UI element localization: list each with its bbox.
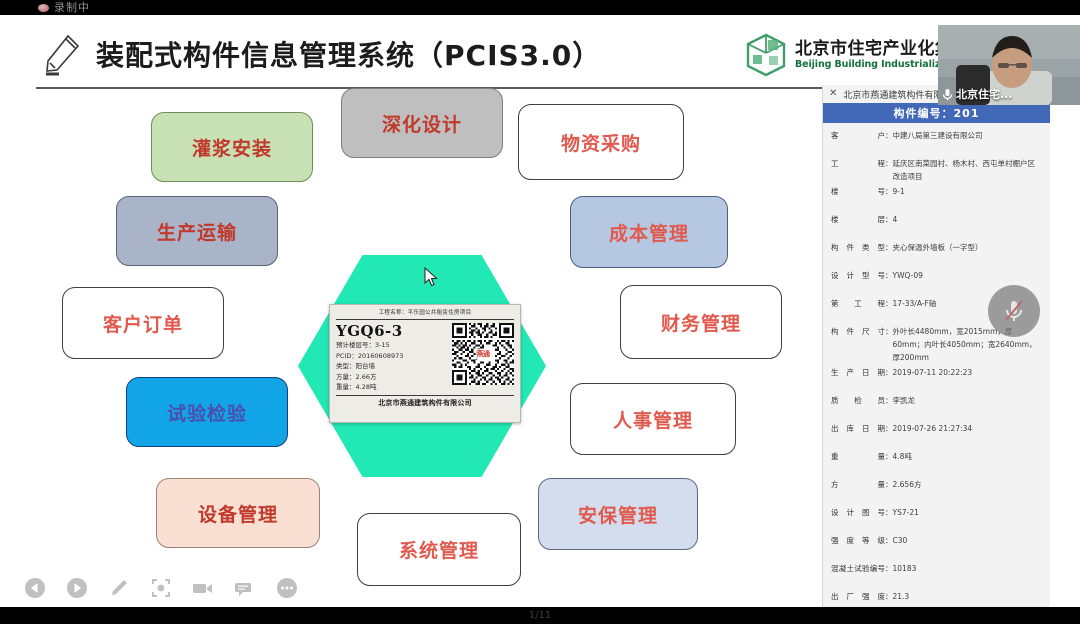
detail-field-key: 混凝土试验编号 — [831, 562, 885, 588]
next-slide-icon[interactable] — [64, 575, 90, 601]
detail-field-row: 出库日期：2019-07-26 21:27:34 — [831, 422, 1042, 448]
detail-field-list: 客户：中建八局第三建设有限公司工程：延庆区南菜园村、杨木村、西屯单村棚户区改造项… — [823, 123, 1050, 607]
detail-field-value: YS7-21 — [893, 506, 1043, 532]
process-node[interactable]: 深化设计 — [341, 88, 503, 158]
detail-field-row: 重量：4.8吨 — [831, 450, 1042, 476]
label-project-line: 工程名称：平乐园公共租赁住房项目 — [336, 309, 514, 320]
recording-bar: 录制中 — [0, 0, 1080, 15]
detail-field-row: 质检员：李凯龙 — [831, 394, 1042, 420]
mouse-cursor-icon — [424, 267, 438, 287]
process-node[interactable]: 系统管理 — [357, 513, 521, 586]
video-icon[interactable] — [190, 575, 216, 601]
label-field: PCID：20160608973 — [336, 351, 448, 362]
record-dot-icon — [38, 4, 49, 12]
label-field: 预计楼层号：3-15 — [336, 340, 448, 351]
process-node[interactable]: 生产运输 — [116, 196, 278, 266]
detail-field-separator: ： — [885, 422, 893, 448]
detail-field-row: 构件类型：夹心保温外墙板（一字型） — [831, 241, 1042, 267]
close-icon[interactable]: ✕ — [829, 89, 837, 99]
mic-muted-icon[interactable] — [988, 285, 1040, 337]
component-detail-panel: ✕ 北京市燕通建筑构件有限公司 构件编号：201 客户：中建八局第三建设有限公司… — [822, 85, 1050, 607]
process-node[interactable]: 试验检验 — [126, 377, 288, 447]
slide-page-indicator: 1/11 — [0, 607, 1080, 624]
detail-field-key: 楼号 — [831, 185, 885, 211]
process-node[interactable]: 安保管理 — [538, 478, 698, 550]
detail-field-separator: ： — [885, 185, 893, 211]
detail-field-separator: ： — [885, 297, 893, 323]
mic-icon — [942, 88, 953, 101]
company-logo: 北京市住宅产业化集团 Beijing Building Industrializ… — [745, 33, 970, 77]
detail-field-row: 混凝土试验编号：10183 — [831, 562, 1042, 588]
page-title: 装配式构件信息管理系统（PCIS3.0） — [96, 34, 601, 74]
detail-field-row: 工程：延庆区南菜园村、杨木村、西屯单村棚户区改造项目 — [831, 157, 1042, 183]
detail-field-key: 工程 — [831, 157, 885, 183]
detail-field-value: 4.8吨 — [893, 450, 1043, 476]
process-node[interactable]: 成本管理 — [570, 196, 728, 268]
detail-field-row: 楼层：4 — [831, 213, 1042, 239]
detail-field-separator: ： — [885, 269, 893, 295]
pen-icon[interactable] — [106, 575, 132, 601]
detail-field-key: 第工程 — [831, 297, 885, 323]
process-node[interactable]: 设备管理 — [156, 478, 320, 548]
detail-field-value: 2.656方 — [893, 478, 1043, 504]
detail-field-key: 构件类型 — [831, 241, 885, 267]
detail-field-separator: ： — [885, 241, 893, 267]
meeting-screen: 录制中 装配式构件信息管理系统（PCIS3.0） 北京市住宅产 — [0, 0, 1080, 624]
detail-field-row: 楼号：9-1 — [831, 185, 1042, 211]
detail-field-row: 方量：2.656方 — [831, 478, 1042, 504]
detail-field-separator: ： — [885, 534, 893, 560]
process-node[interactable]: 客户订单 — [62, 287, 224, 359]
detail-field-key: 方量 — [831, 478, 885, 504]
detail-field-row: 生产日期：2019-07-11 20:22:23 — [831, 366, 1042, 392]
label-field: 重量：4.28吨 — [336, 382, 448, 393]
detail-field-value: 李凯龙 — [893, 394, 1043, 420]
detail-field-value: 2019-07-11 20:22:23 — [893, 366, 1043, 392]
detail-field-separator: ： — [885, 325, 893, 364]
label-field: 类型：阳台墙 — [336, 361, 448, 372]
detail-field-key: 生产日期 — [831, 366, 885, 392]
detail-field-value: C30 — [893, 534, 1043, 560]
detail-field-row: 设计图号：YS7-21 — [831, 506, 1042, 532]
detail-field-value: 21.3 — [893, 590, 1043, 607]
detail-field-value: 4 — [893, 213, 1043, 239]
detail-field-key: 设计图号 — [831, 506, 885, 532]
cube-logo-icon — [745, 33, 787, 77]
detail-field-key: 客户 — [831, 129, 885, 155]
detail-field-row: 强度等级：C30 — [831, 534, 1042, 560]
detail-field-value: 10183 — [893, 562, 1043, 588]
laser-pointer-icon[interactable] — [148, 575, 174, 601]
label-company: 北京市燕通建筑构件有限公司 — [336, 395, 514, 408]
detail-field-key: 强度等级 — [831, 534, 885, 560]
webcam-label: 北京住宅... — [942, 86, 1013, 102]
label-component-code: YGQ6-3 — [336, 323, 448, 340]
presenter-toolbar[interactable] — [22, 575, 300, 601]
presenter-webcam[interactable]: 北京住宅... — [938, 25, 1080, 105]
detail-field-value: 延庆区南菜园村、杨木村、西屯单村棚户区改造项目 — [893, 157, 1043, 183]
detail-field-separator: ： — [885, 394, 893, 420]
chat-icon[interactable] — [232, 575, 258, 601]
qr-code: 燕通 — [452, 323, 514, 385]
detail-field-separator: ： — [885, 129, 893, 155]
detail-field-key: 楼层 — [831, 213, 885, 239]
prev-slide-icon[interactable] — [22, 575, 48, 601]
qr-center-text: 燕通 — [476, 349, 491, 359]
detail-field-separator: ： — [885, 213, 893, 239]
process-node[interactable]: 灌浆安装 — [151, 112, 313, 182]
process-node[interactable]: 财务管理 — [620, 285, 782, 359]
detail-field-key: 质检员 — [831, 394, 885, 420]
detail-field-key: 出库日期 — [831, 422, 885, 448]
pencil-icon — [42, 33, 82, 79]
detail-field-key: 构件尺寸 — [831, 325, 885, 364]
recording-label: 录制中 — [54, 2, 90, 13]
detail-field-value: 中建八局第三建设有限公司 — [893, 129, 1043, 155]
detail-field-separator: ： — [885, 450, 893, 476]
detail-field-row: 出厂强度：21.3 — [831, 590, 1042, 607]
detail-field-key: 设计型号 — [831, 269, 885, 295]
detail-field-key: 出厂强度 — [831, 590, 885, 607]
process-node[interactable]: 物资采购 — [518, 104, 684, 180]
detail-field-separator: ： — [885, 562, 893, 588]
detail-field-value: 2019-07-26 21:27:34 — [893, 422, 1043, 448]
panel-header: 构件编号：201 — [823, 103, 1050, 123]
more-icon[interactable] — [274, 575, 300, 601]
detail-field-separator: ： — [885, 366, 893, 392]
detail-field-value: 9-1 — [893, 185, 1043, 211]
detail-field-separator: ： — [885, 478, 893, 504]
detail-field-key: 重量 — [831, 450, 885, 476]
label-field: 方量：2.66方 — [336, 372, 448, 383]
component-label-card: 工程名称：平乐园公共租赁住房项目 YGQ6-3 预计楼层号：3-15 PCID：… — [329, 304, 521, 423]
process-node[interactable]: 人事管理 — [570, 383, 736, 455]
webcam-name-text: 北京住宅... — [956, 86, 1013, 102]
detail-field-separator: ： — [885, 590, 893, 607]
detail-field-separator: ： — [885, 157, 893, 183]
detail-field-separator: ： — [885, 506, 893, 532]
detail-field-value: 夹心保温外墙板（一字型） — [893, 241, 1043, 267]
detail-field-row: 客户：中建八局第三建设有限公司 — [831, 129, 1042, 155]
